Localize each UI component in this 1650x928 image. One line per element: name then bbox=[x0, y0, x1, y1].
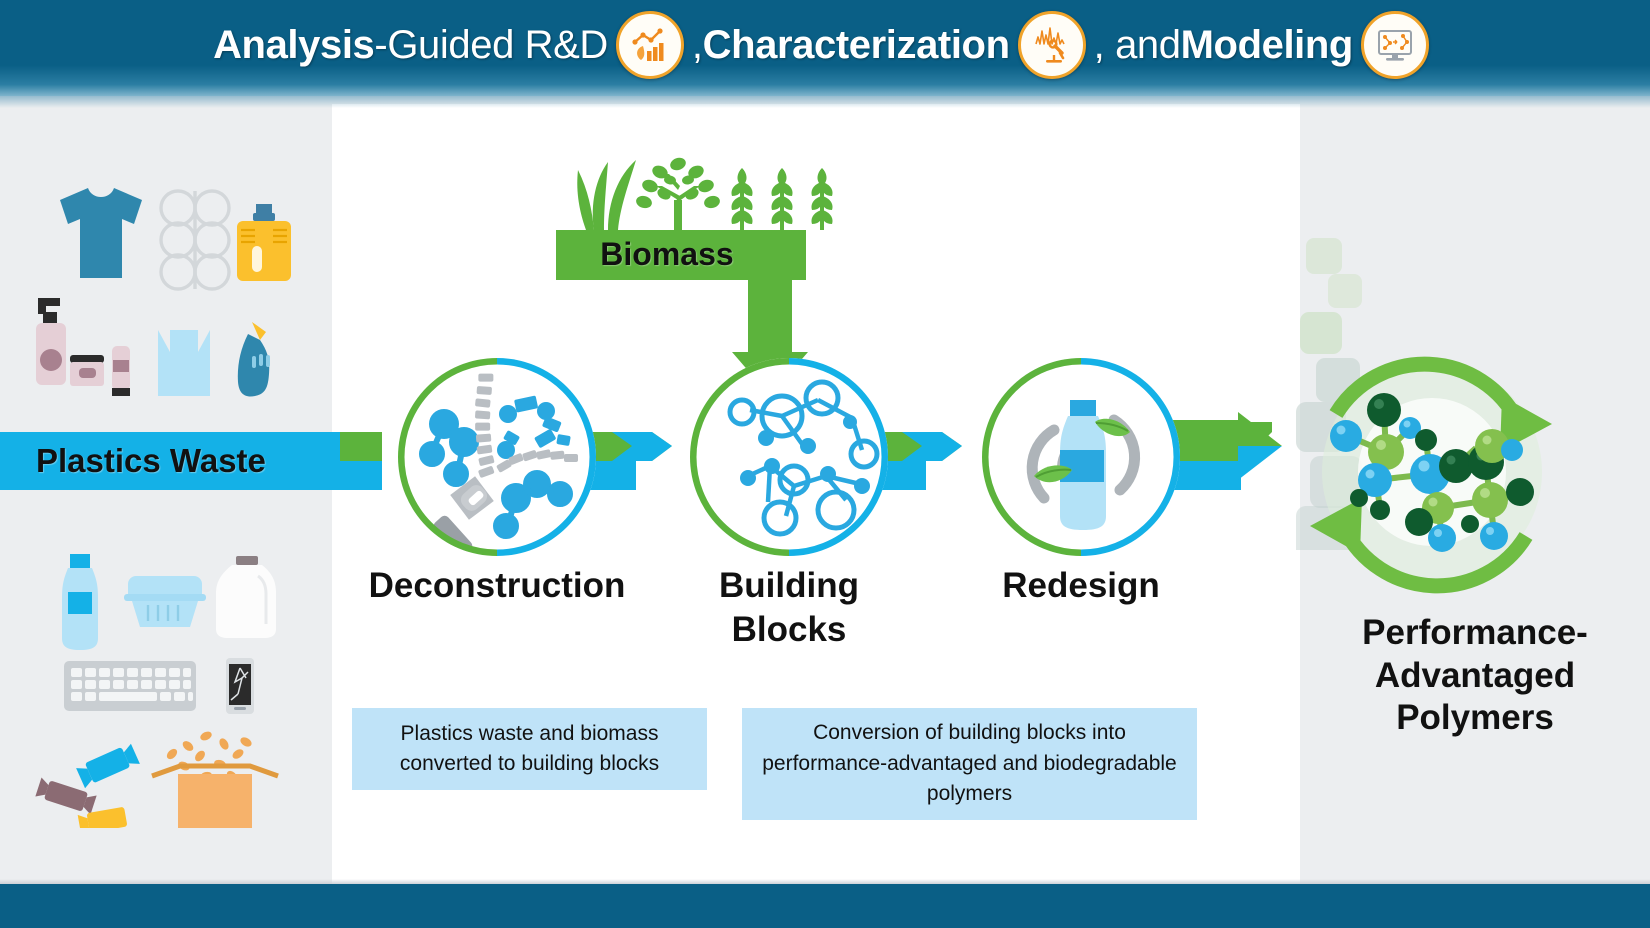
title-characterization-word: Characterization bbox=[703, 23, 1010, 68]
microscope-spectrum-icon bbox=[1018, 11, 1086, 79]
six-pack-ring-icon bbox=[161, 191, 229, 289]
waste-icons-top bbox=[0, 160, 332, 410]
caption-deconstruction: Plastics waste and biomass converted to … bbox=[352, 708, 707, 790]
biomass-plants-icon bbox=[577, 156, 832, 230]
deconstruction-circle bbox=[398, 358, 596, 556]
lotion-pump-bottle-icon bbox=[36, 298, 66, 385]
performance-polymer-molecule bbox=[1280, 340, 1580, 610]
plastic-bag-icon bbox=[158, 330, 210, 396]
performance-advantaged-polymers-label: Performance-Advantaged Polymers bbox=[1300, 612, 1650, 740]
node-label-building-blocks: Building Blocks bbox=[659, 564, 919, 652]
building-blocks-ring bbox=[690, 358, 888, 556]
footer-bar bbox=[0, 884, 1650, 928]
clamshell-container-icon bbox=[124, 576, 206, 627]
keyboard-icon bbox=[64, 661, 196, 711]
redesign-circle bbox=[982, 358, 1180, 556]
title-comma-1: , bbox=[692, 23, 703, 68]
cleaner-bottle-icon bbox=[238, 322, 270, 396]
biomass-label: Biomass bbox=[556, 228, 778, 280]
candy-wrapper-icon bbox=[35, 743, 140, 828]
waste-icons-bottom bbox=[0, 498, 332, 828]
detergent-bottle-icon bbox=[237, 204, 291, 281]
node-deconstruction[interactable]: Deconstruction bbox=[398, 358, 596, 556]
node-label-redesign: Redesign bbox=[1002, 564, 1160, 608]
cracked-phone-icon bbox=[226, 658, 254, 714]
computer-molecule-icon bbox=[1361, 11, 1429, 79]
infographic-canvas: Analysis-Guided R&D , Characterization bbox=[0, 0, 1650, 928]
title-guided-rd: -Guided R&D bbox=[374, 23, 607, 68]
t-shirt-icon bbox=[60, 188, 142, 278]
node-redesign[interactable]: Redesign bbox=[982, 358, 1180, 556]
water-bottle-icon bbox=[62, 554, 98, 650]
title-banner: Analysis-Guided R&D , Characterization bbox=[0, 0, 1650, 96]
plastics-waste-label: Plastics Waste bbox=[36, 442, 266, 480]
title-analysis-word: Analysis bbox=[213, 23, 374, 68]
node-building-blocks[interactable]: Building Blocks bbox=[690, 358, 888, 556]
caption-redesign: Conversion of building blocks into perfo… bbox=[742, 708, 1197, 820]
title-comma-2: , and bbox=[1094, 23, 1181, 68]
shipping-box-packing-peanuts-icon bbox=[152, 730, 278, 828]
node-label-deconstruction: Deconstruction bbox=[369, 564, 626, 608]
title-modeling-word: Modeling bbox=[1181, 23, 1353, 68]
plastics-waste-banner: Plastics Waste bbox=[0, 432, 340, 490]
milk-jug-icon bbox=[216, 556, 276, 638]
redesign-ring bbox=[982, 358, 1180, 556]
cosmetic-jar-icon bbox=[70, 355, 104, 386]
deconstruction-ring bbox=[398, 358, 596, 556]
building-blocks-circle bbox=[690, 358, 888, 556]
cream-tube-icon bbox=[112, 346, 130, 396]
analysis-chart-leaf-icon bbox=[616, 11, 684, 79]
